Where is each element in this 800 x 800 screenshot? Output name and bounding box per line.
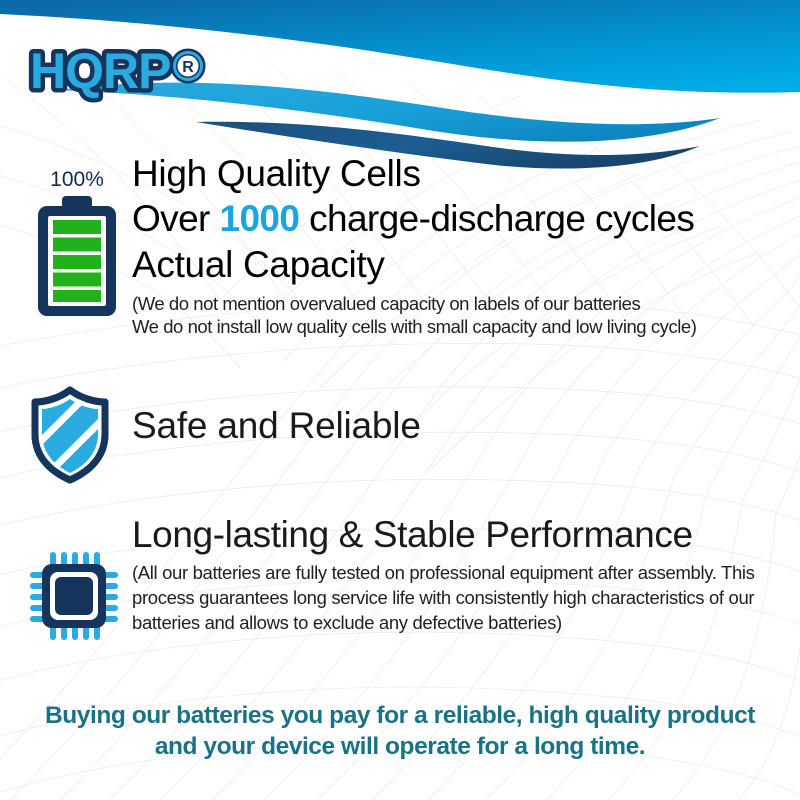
cycles-suffix: charge-discharge cycles xyxy=(299,198,694,239)
tagline-line-1: Buying our batteries you pay for a relia… xyxy=(45,702,755,729)
feature-performance-heading: Long-lasting & Stable Performance xyxy=(132,512,792,558)
tagline-line-2: and your device will operate for a long … xyxy=(0,731,800,762)
feature-safe-heading: Safe and Reliable xyxy=(132,404,732,448)
battery-icon xyxy=(36,196,118,318)
poster-content: 100% High Quality Cells Over 1000 charge… xyxy=(0,0,800,800)
feature-performance-text-group: Long-lasting & Stable Performance (All o… xyxy=(132,512,792,635)
feature-safe-icon-group xyxy=(30,386,110,484)
closing-tagline: Buying our batteries you pay for a relia… xyxy=(0,700,800,762)
feature-cells-detail-line-2: We do not install low quality cells with… xyxy=(132,315,788,338)
svg-text:HQRP: HQRP xyxy=(30,44,170,99)
product-feature-poster: HQRP HQRP R 100% xyxy=(0,0,800,800)
svg-text:R: R xyxy=(182,59,194,76)
shield-icon xyxy=(30,386,110,484)
feature-cells-detail-line-1: (We do not mention overvalued capacity o… xyxy=(132,292,788,315)
cycles-count-accent: 1000 xyxy=(219,198,299,239)
feature-cells-heading-line-3: Actual Capacity xyxy=(132,242,788,288)
chip-icon xyxy=(28,550,120,642)
feature-performance-detail: (All our batteries are fully tested on p… xyxy=(132,560,780,635)
feature-cells-heading-line-1: High Quality Cells xyxy=(132,152,788,196)
feature-safe-text-group: Safe and Reliable xyxy=(132,404,732,448)
feature-cells-heading-line-2: Over 1000 charge-discharge cycles xyxy=(132,196,788,242)
hqrp-logo: HQRP HQRP R xyxy=(26,44,212,106)
battery-percent-label: 100% xyxy=(24,168,130,192)
feature-cells-text-group: High Quality Cells Over 1000 charge-disc… xyxy=(132,152,788,338)
feature-performance-icon-group xyxy=(28,550,120,642)
cycles-prefix: Over xyxy=(132,198,219,239)
feature-cells-icon-group: 100% xyxy=(24,168,130,318)
